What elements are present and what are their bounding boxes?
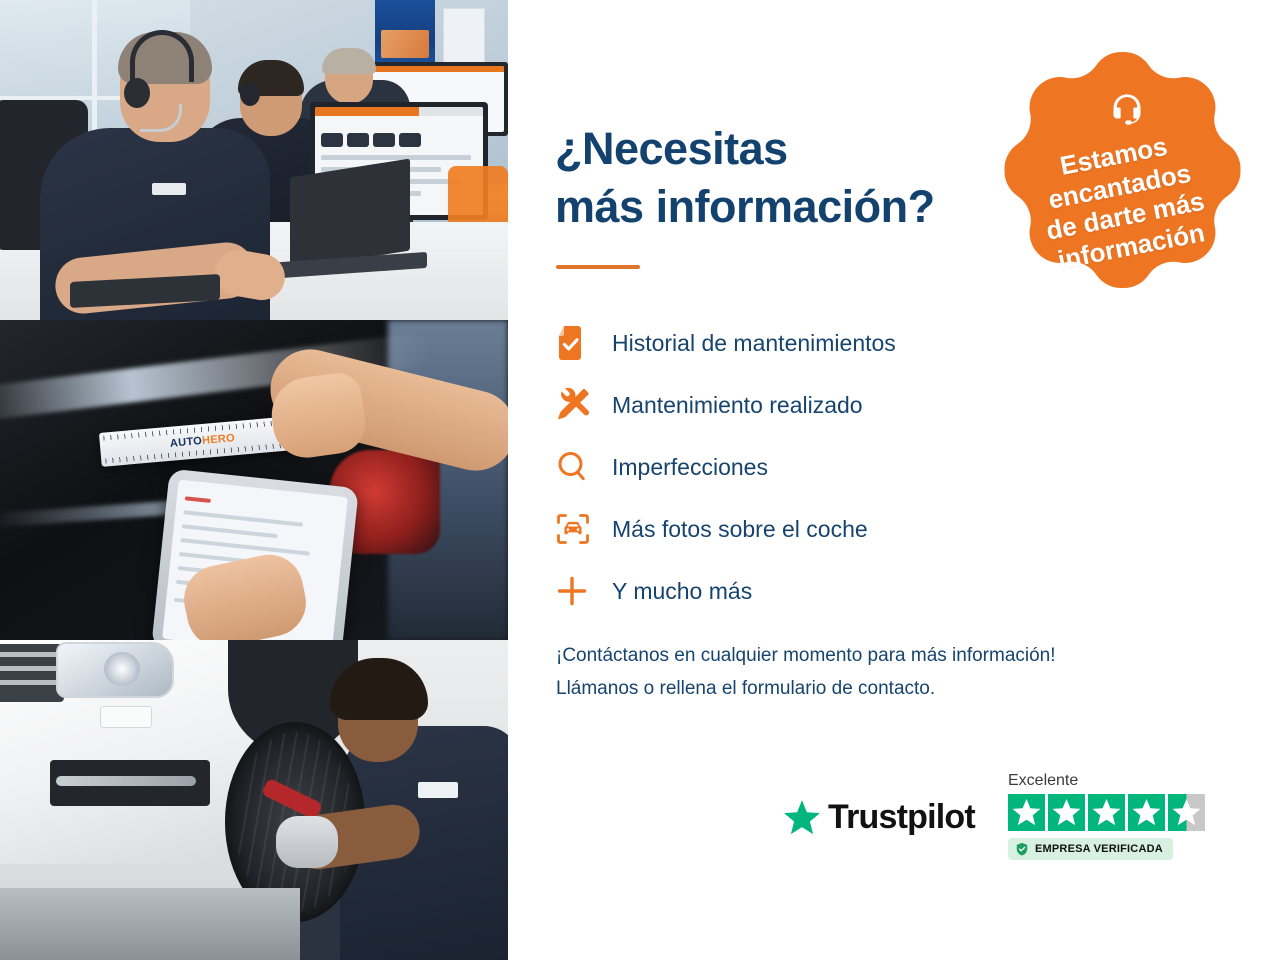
feature-item-mantenimiento: Mantenimiento realizado (556, 374, 1116, 436)
info-badge: Estamos encantados de darte más informac… (985, 48, 1260, 323)
agent-one-logo (152, 183, 186, 195)
title-line-2: más información? (555, 181, 935, 232)
feature-list: Historial de mantenimientos Mantenimient… (556, 312, 1116, 622)
rating-label: Excelente (1008, 772, 1205, 790)
car-viewfinder-icon (556, 513, 612, 545)
car-lift-platform (0, 888, 300, 960)
contact-paragraph: ¡Contáctanos en cualquier momento para m… (556, 640, 1236, 705)
wall-poster (375, 0, 435, 66)
trustpilot-block: Trustpilot Excelente (783, 772, 1233, 882)
trustpilot-logo[interactable]: Trustpilot (783, 798, 975, 837)
mechanic-uniform-logo (418, 782, 458, 798)
star-2 (1048, 794, 1085, 831)
photo-column: AUTOHERO (0, 0, 508, 960)
feature-item-imperfecciones: Imperfecciones (556, 436, 1116, 498)
car-inspection-ruler-photo: AUTOHERO (0, 320, 508, 640)
star-4 (1128, 794, 1165, 831)
feature-label: Más fotos sobre el coche (612, 516, 868, 543)
wrench-screwdriver-icon (556, 388, 612, 422)
plus-icon (556, 575, 612, 607)
feature-item-mucho-mas: Y mucho más (556, 560, 1116, 622)
shield-check-icon (1015, 842, 1029, 856)
licence-plate-area (100, 706, 152, 728)
call-center-agents-photo (0, 0, 508, 320)
agent-three-hair (322, 48, 376, 74)
trustpilot-brand-name: Trustpilot (828, 798, 975, 837)
star-rating (1008, 794, 1205, 831)
wall-poster-small (443, 8, 485, 70)
agent-two-headphone (240, 82, 260, 106)
car-grille (0, 644, 64, 702)
feature-label: Y mucho más (612, 578, 752, 605)
trustpilot-rating: Excelente (1008, 772, 1205, 861)
verified-label: EMPRESA VERIFICADA (1035, 843, 1163, 855)
mechanic-glove (276, 816, 338, 868)
car-headlight (56, 642, 174, 698)
headset-icon (1107, 90, 1147, 130)
contact-line-1: ¡Contáctanos en cualquier momento para m… (556, 645, 1056, 666)
trustpilot-star-icon (783, 799, 821, 837)
verified-company-badge: EMPRESA VERIFICADA (1008, 838, 1173, 860)
mechanic-tyre-photo (0, 640, 508, 960)
contact-line-2: Llámanos o rellena el formulario de cont… (556, 678, 935, 699)
title-underline-rule (556, 265, 640, 269)
star-5-half (1168, 794, 1205, 831)
star-3 (1088, 794, 1125, 831)
content-panel: ¿Necesitas más información? Estamos enca… (508, 0, 1280, 960)
promo-banner: AUTOHERO (0, 0, 1280, 960)
star-1 (1008, 794, 1045, 831)
car-chrome-trim (56, 776, 196, 786)
laptop-screen (290, 158, 410, 269)
feature-item-historial: Historial de mantenimientos (556, 312, 1116, 374)
document-check-icon (556, 326, 612, 360)
feature-label: Historial de mantenimientos (612, 330, 896, 357)
feature-label: Mantenimiento realizado (612, 392, 863, 419)
feature-item-fotos: Más fotos sobre el coche (556, 498, 1116, 560)
feature-label: Imperfecciones (612, 454, 768, 481)
page-title: ¿Necesitas más información? (555, 120, 985, 235)
magnifier-icon (556, 450, 612, 484)
title-line-1: ¿Necesitas (555, 123, 788, 174)
